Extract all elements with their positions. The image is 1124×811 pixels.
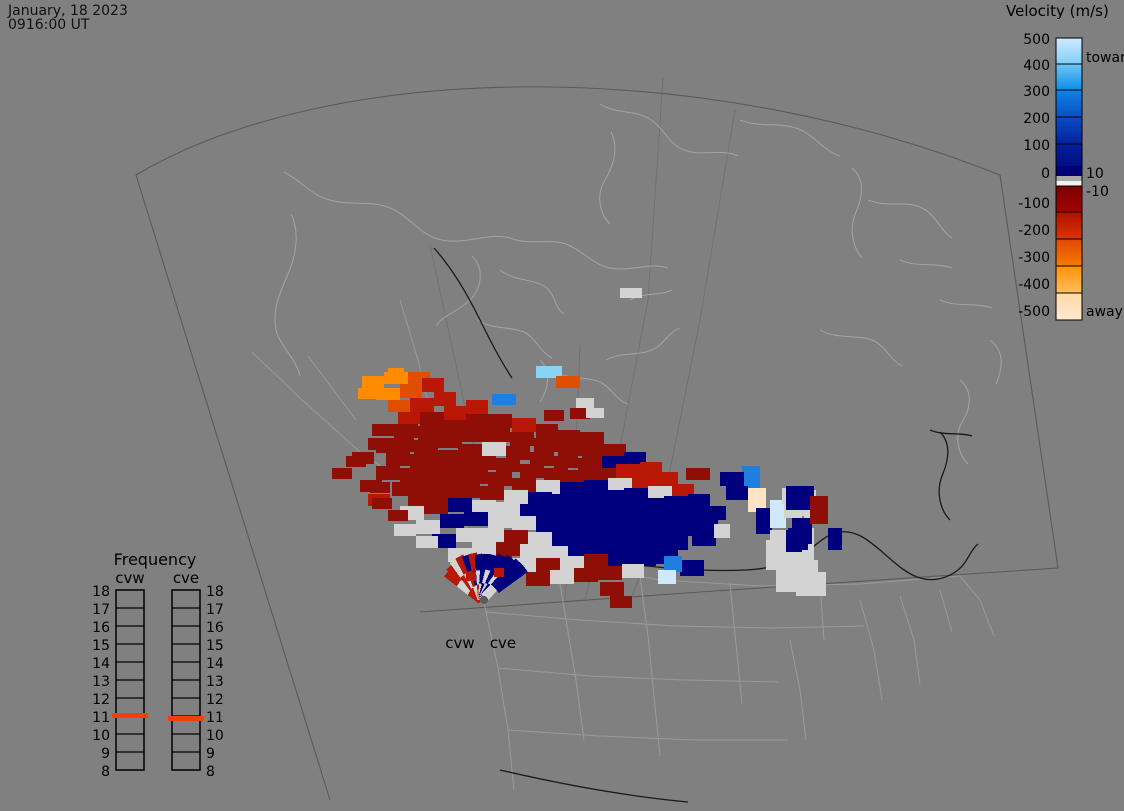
fan-outlier-cell <box>494 568 504 577</box>
radar-map-figure: January, 18 2023 0916:00 UT cvw cve <box>0 0 1124 811</box>
colorbar-zero-white-band <box>1056 181 1082 186</box>
frequency-tick-left: 15 <box>92 638 110 654</box>
colorbar-title: Velocity (m/s) <box>1006 2 1109 20</box>
colorbar-tick: 500 <box>1023 32 1050 48</box>
frequency-legend-title: Frequency <box>114 550 197 569</box>
timestamp-time: 0916:00 UT <box>8 17 90 33</box>
colorbar-band <box>1056 38 1082 64</box>
frequency-tick-right: 16 <box>206 620 224 636</box>
colorbar-tick: -300 <box>1018 250 1050 266</box>
frequency-bar-label-cve: cve <box>173 569 199 587</box>
site-label-cvw: cvw <box>445 634 474 652</box>
frequency-tick-left: 17 <box>92 602 110 618</box>
colorbar-band <box>1056 64 1082 90</box>
frequency-tick-left: 14 <box>92 656 110 672</box>
frequency-tick-right: 11 <box>206 710 224 726</box>
radar-site-marker <box>480 596 488 604</box>
frequency-tick-left: 12 <box>92 692 110 708</box>
colorbar-band <box>1056 239 1082 266</box>
colorbar-tick: 100 <box>1023 138 1050 154</box>
frequency-marker-cve <box>168 716 204 721</box>
figure-canvas: January, 18 2023 0916:00 UT cvw cve <box>0 0 1124 811</box>
frequency-tick-right: 14 <box>206 656 224 672</box>
figure-background <box>0 0 1124 811</box>
frequency-tick-left: 9 <box>101 746 110 762</box>
colorbar-toward-label: toward <box>1086 50 1124 66</box>
frequency-tick-left: 10 <box>92 728 110 744</box>
frequency-bar-label-cvw: cvw <box>115 569 144 587</box>
colorbar-away-label: away <box>1086 304 1123 320</box>
site-label-cve: cve <box>490 634 516 652</box>
frequency-tick-right: 8 <box>206 764 215 780</box>
colorbar-inner-pos-label: 10 <box>1086 166 1104 182</box>
colorbar-band <box>1056 90 1082 117</box>
frequency-tick-right: 15 <box>206 638 224 654</box>
colorbar-band <box>1056 186 1082 212</box>
colorbar-tick: 400 <box>1023 58 1050 74</box>
frequency-tick-left: 18 <box>92 584 110 600</box>
colorbar-band <box>1056 166 1082 176</box>
colorbar-band <box>1056 266 1082 293</box>
colorbar-tick: -500 <box>1018 304 1050 320</box>
colorbar-tick: -200 <box>1018 223 1050 239</box>
colorbar-tick: -100 <box>1018 196 1050 212</box>
frequency-tick-right: 17 <box>206 602 224 618</box>
frequency-tick-right: 10 <box>206 728 224 744</box>
fan-outlier-cell <box>466 572 476 581</box>
colorbar-band <box>1056 212 1082 239</box>
frequency-tick-right: 18 <box>206 584 224 600</box>
frequency-tick-left: 8 <box>101 764 110 780</box>
frequency-tick-right: 12 <box>206 692 224 708</box>
frequency-tick-left: 13 <box>92 674 110 690</box>
frequency-marker-cvw <box>112 713 148 718</box>
colorbar-inner-neg-label: -10 <box>1086 184 1109 200</box>
colorbar-zero-grey-band <box>1056 176 1082 181</box>
colorbar-tick: 0 <box>1041 166 1050 182</box>
frequency-tick-left: 11 <box>92 710 110 726</box>
frequency-tick-right: 9 <box>206 746 215 762</box>
colorbar-tick: 300 <box>1023 84 1050 100</box>
frequency-tick-right: 13 <box>206 674 224 690</box>
colorbar-band <box>1056 117 1082 144</box>
colorbar-tick: 200 <box>1023 111 1050 127</box>
colorbar-tick: -400 <box>1018 277 1050 293</box>
colorbar-band <box>1056 293 1082 320</box>
frequency-tick-left: 16 <box>92 620 110 636</box>
